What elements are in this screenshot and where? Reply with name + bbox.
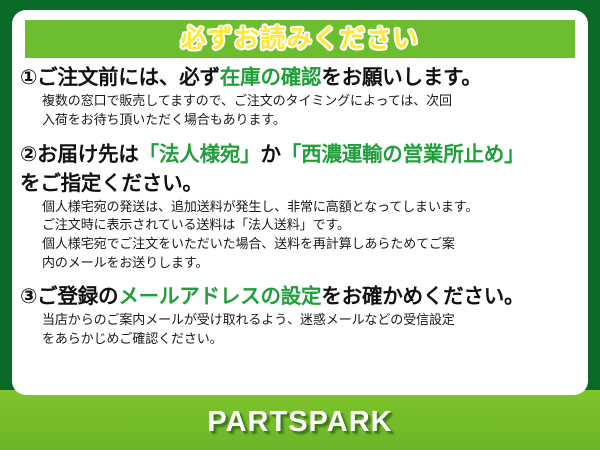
notice-item-3-sub-line-1: 当店からのご案内メールが受け取れるよう、迷惑メールなどの受信設定 — [42, 311, 582, 330]
notice-item-2-sub-line-3: 個人様宅宛でご注文をいただいた場合、送料を再計算しあらためてご案 — [42, 235, 582, 254]
notice-white-panel: 必ずお読みください ①ご注文前には、必ず在庫の確認をお願いします。 複数の窓口で… — [12, 10, 588, 395]
notice-item-2: ②お届け先は「法人様宛」か「西濃運輸の営業所止め」 をご指定ください。 個人様宅… — [20, 141, 582, 272]
notice-title-banner: 必ずお読みください — [25, 20, 575, 58]
notice-item-2-heading-part-3: か — [260, 143, 280, 166]
notice-item-1-sub-line-1: 複数の窓口で販売してますので、ご注文のタイミングによっては、次回 — [42, 92, 582, 111]
notice-item-3-heading: ③ご登録のメールアドレスの設定をお確かめください。 — [20, 283, 582, 310]
notice-item-2-heading-part-1: ②お届け先は — [20, 143, 139, 166]
notice-item-3-sub-line-2: をあらかじめご確認ください。 — [42, 330, 582, 349]
footer-brand-area: PARTSPARK — [0, 395, 600, 450]
notice-item-1: ①ご注文前には、必ず在庫の確認をお願いします。 複数の窓口で販売してますので、ご… — [20, 64, 582, 129]
notice-item-1-heading-highlight: 在庫の確認 — [220, 66, 322, 89]
notice-item-2-heading-highlight-1: 「法人様宛」 — [139, 143, 261, 166]
notice-item-3: ③ご登録のメールアドレスの設定をお確かめください。 当店からのご案内メールが受け… — [20, 283, 582, 348]
notice-item-3-heading-part-1: ③ご登録の — [20, 285, 118, 308]
notice-item-2-heading-highlight-2: 「西濃運輸の営業所止め」 — [281, 143, 525, 166]
notice-item-3-heading-highlight: メールアドレスの設定 — [118, 285, 321, 308]
notice-item-1-heading-part-1: ①ご注文前には、必ず — [20, 66, 220, 89]
spacer-after-item-2 — [20, 274, 582, 283]
notice-item-3-sub: 当店からのご案内メールが受け取れるよう、迷惑メールなどの受信設定 をあらかじめご… — [42, 311, 582, 348]
notice-item-2-sub-line-4: 内のメールをお送りします。 — [42, 254, 582, 273]
notice-item-3-heading-part-3: をお確かめください。 — [321, 285, 524, 308]
brand-logo-text: PARTSPARK — [207, 408, 392, 437]
notice-body: ①ご注文前には、必ず在庫の確認をお願いします。 複数の窓口で販売してますので、ご… — [20, 64, 582, 393]
notice-item-1-sub-line-2: 入荷をお待ち頂いただく場合もあります。 — [42, 111, 582, 130]
notice-item-1-heading: ①ご注文前には、必ず在庫の確認をお願いします。 — [20, 64, 582, 91]
notice-item-1-heading-part-3: をお願いします。 — [321, 66, 481, 89]
notice-item-2-heading-line-1: ②お届け先は「法人様宛」か「西濃運輸の営業所止め」 — [20, 141, 582, 168]
notice-item-1-sub: 複数の窓口で販売してますので、ご注文のタイミングによっては、次回 入荷をお待ち頂… — [42, 92, 582, 129]
notice-card: 必ずお読みください ①ご注文前には、必ず在庫の確認をお願いします。 複数の窓口で… — [0, 0, 600, 450]
notice-item-2-sub-line-1: 個人様宅宛の発送は、追加送料が発生し、非常に高額となってしまいます。 — [42, 198, 582, 217]
notice-item-2-sub: 個人様宅宛の発送は、追加送料が発生し、非常に高額となってしまいます。 ご注文時に… — [42, 198, 582, 272]
spacer-after-item-1 — [20, 131, 582, 141]
notice-item-2-sub-line-2: ご注文時に表示されている送料は「法人送料」です。 — [42, 216, 582, 235]
notice-title: 必ずお読みください — [181, 27, 420, 52]
notice-item-2-heading-line-2: をご指定ください。 — [20, 170, 582, 197]
